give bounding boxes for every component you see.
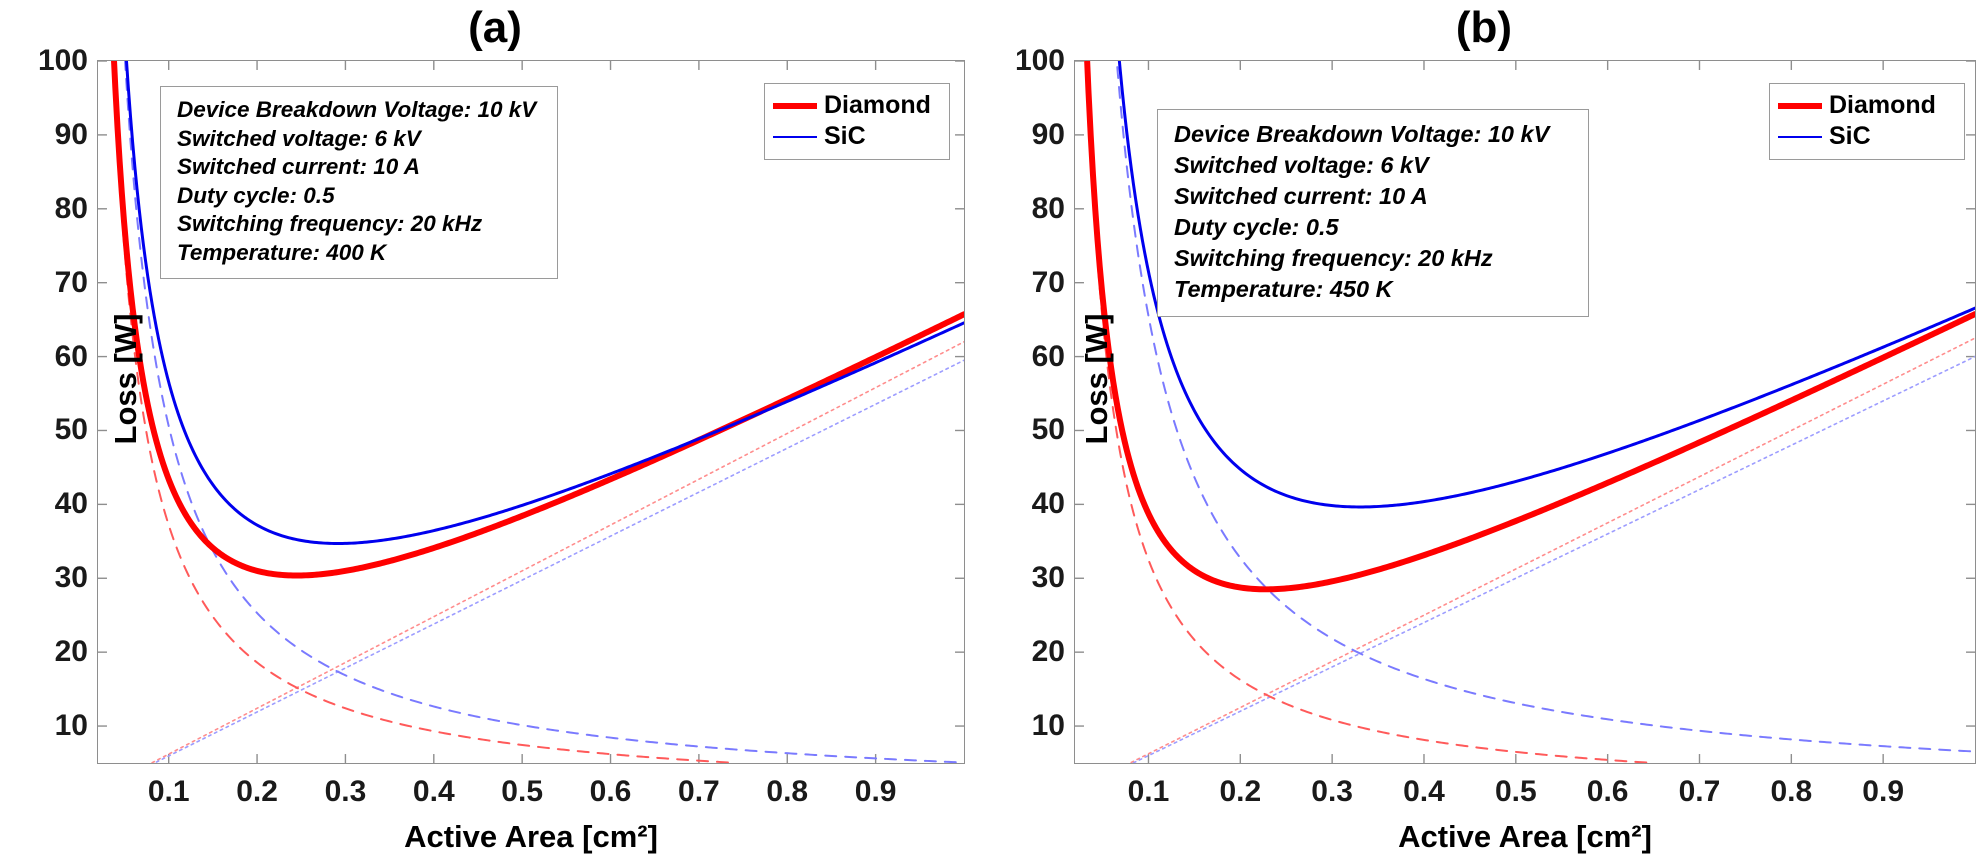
- panel-b-legend: Diamond SiC: [1769, 83, 1965, 160]
- y-tick-label: 10: [55, 709, 88, 743]
- panel-a-title: (a): [0, 2, 990, 54]
- legend-label-sic: SiC: [1829, 124, 1871, 149]
- legend-entry-diamond: Diamond: [1778, 90, 1954, 121]
- y-tick-label: 50: [55, 413, 88, 447]
- annotation-line: Temperature: 400 K: [177, 239, 543, 268]
- legend-line-sic-icon: [773, 136, 817, 138]
- y-tick-label: 80: [1032, 192, 1065, 226]
- y-tick-label: 100: [38, 44, 88, 78]
- annotation-line: Device Breakdown Voltage: 10 kV: [1174, 119, 1574, 150]
- legend-entry-sic: SiC: [1778, 121, 1954, 152]
- series-sic-switching-loss: [156, 360, 964, 762]
- panel-a-y-axis-label: Loss [W]: [108, 299, 144, 459]
- y-tick-label: 60: [1032, 340, 1065, 374]
- panel-b-plot-area: 0.10.20.30.40.50.60.70.80.91020304050607…: [1074, 60, 1976, 764]
- y-tick-label: 70: [1032, 266, 1065, 300]
- y-tick-label: 50: [1032, 413, 1065, 447]
- legend-entry-diamond: Diamond: [773, 90, 939, 121]
- legend-line-sic-icon: [1778, 136, 1822, 138]
- x-tick-label: 0.7: [1679, 775, 1721, 809]
- panel-a-annotation-box: Device Breakdown Voltage: 10 kV Switched…: [160, 86, 558, 279]
- y-tick-label: 90: [1032, 118, 1065, 152]
- legend-label-diamond: Diamond: [824, 93, 931, 118]
- panel-b-annotation-box: Device Breakdown Voltage: 10 kV Switched…: [1157, 109, 1589, 317]
- panel-a-x-axis-label: Active Area [cm²]: [98, 819, 964, 855]
- x-tick-label: 0.6: [590, 775, 632, 809]
- x-tick-label: 0.8: [1770, 775, 1812, 809]
- panel-b: (b) 0.10.20.30.40.50.60.70.80.9102030405…: [989, 0, 1979, 861]
- x-tick-label: 0.3: [1311, 775, 1353, 809]
- y-tick-label: 90: [55, 118, 88, 152]
- legend-line-diamond-icon: [773, 103, 817, 109]
- y-tick-label: 20: [1032, 635, 1065, 669]
- x-tick-label: 0.3: [325, 775, 367, 809]
- annotation-line: Temperature: 450 K: [1174, 274, 1574, 305]
- annotation-line: Switched voltage: 6 kV: [1174, 150, 1574, 181]
- legend-label-sic: SiC: [824, 124, 866, 149]
- x-tick-label: 0.4: [1403, 775, 1445, 809]
- y-tick-label: 70: [55, 266, 88, 300]
- legend-entry-sic: SiC: [773, 121, 939, 152]
- annotation-line: Switched voltage: 6 kV: [177, 125, 543, 154]
- y-tick-label: 40: [55, 487, 88, 521]
- y-tick-label: 40: [1032, 487, 1065, 521]
- y-tick-label: 10: [1032, 709, 1065, 743]
- annotation-line: Duty cycle: 0.5: [1174, 212, 1574, 243]
- x-tick-label: 0.2: [1219, 775, 1261, 809]
- x-tick-label: 0.9: [855, 775, 897, 809]
- legend-label-diamond: Diamond: [1829, 93, 1936, 118]
- x-tick-label: 0.5: [501, 775, 543, 809]
- panel-a-legend: Diamond SiC: [764, 83, 950, 160]
- x-tick-label: 0.5: [1495, 775, 1537, 809]
- series-diamond-switching-loss: [1131, 338, 1975, 762]
- annotation-line: Switching frequency: 20 kHz: [177, 210, 543, 239]
- x-tick-label: 0.9: [1862, 775, 1904, 809]
- annotation-line: Switched current: 10 A: [177, 153, 543, 182]
- y-tick-label: 20: [55, 635, 88, 669]
- panel-b-title: (b): [989, 2, 1979, 54]
- y-tick-label: 60: [55, 340, 88, 374]
- x-tick-label: 0.6: [1587, 775, 1629, 809]
- panel-a-plot-area: 0.10.20.30.40.50.60.70.80.91020304050607…: [97, 60, 965, 764]
- y-tick-label: 100: [1015, 44, 1065, 78]
- annotation-line: Switched current: 10 A: [1174, 181, 1574, 212]
- annotation-line: Duty cycle: 0.5: [177, 182, 543, 211]
- x-tick-label: 0.4: [413, 775, 455, 809]
- x-tick-label: 0.8: [766, 775, 808, 809]
- annotation-line: Switching frequency: 20 kHz: [1174, 243, 1574, 274]
- series-sic-switching-loss: [1134, 357, 1976, 763]
- x-tick-label: 0.7: [678, 775, 720, 809]
- y-tick-label: 80: [55, 192, 88, 226]
- panel-a: (a) 0.10.20.30.40.50.60.70.80.9102030405…: [0, 0, 990, 861]
- legend-line-diamond-icon: [1778, 103, 1822, 109]
- series-diamond-switching-loss: [152, 342, 964, 763]
- panel-b-y-axis-label: Loss [W]: [1079, 299, 1115, 459]
- annotation-line: Device Breakdown Voltage: 10 kV: [177, 96, 543, 125]
- x-tick-label: 0.1: [1128, 775, 1170, 809]
- x-tick-label: 0.1: [148, 775, 190, 809]
- x-tick-label: 0.2: [236, 775, 278, 809]
- y-tick-label: 30: [55, 561, 88, 595]
- figure-root: (a) 0.10.20.30.40.50.60.70.80.9102030405…: [0, 0, 1979, 861]
- y-tick-label: 30: [1032, 561, 1065, 595]
- panel-b-x-axis-label: Active Area [cm²]: [1075, 819, 1975, 855]
